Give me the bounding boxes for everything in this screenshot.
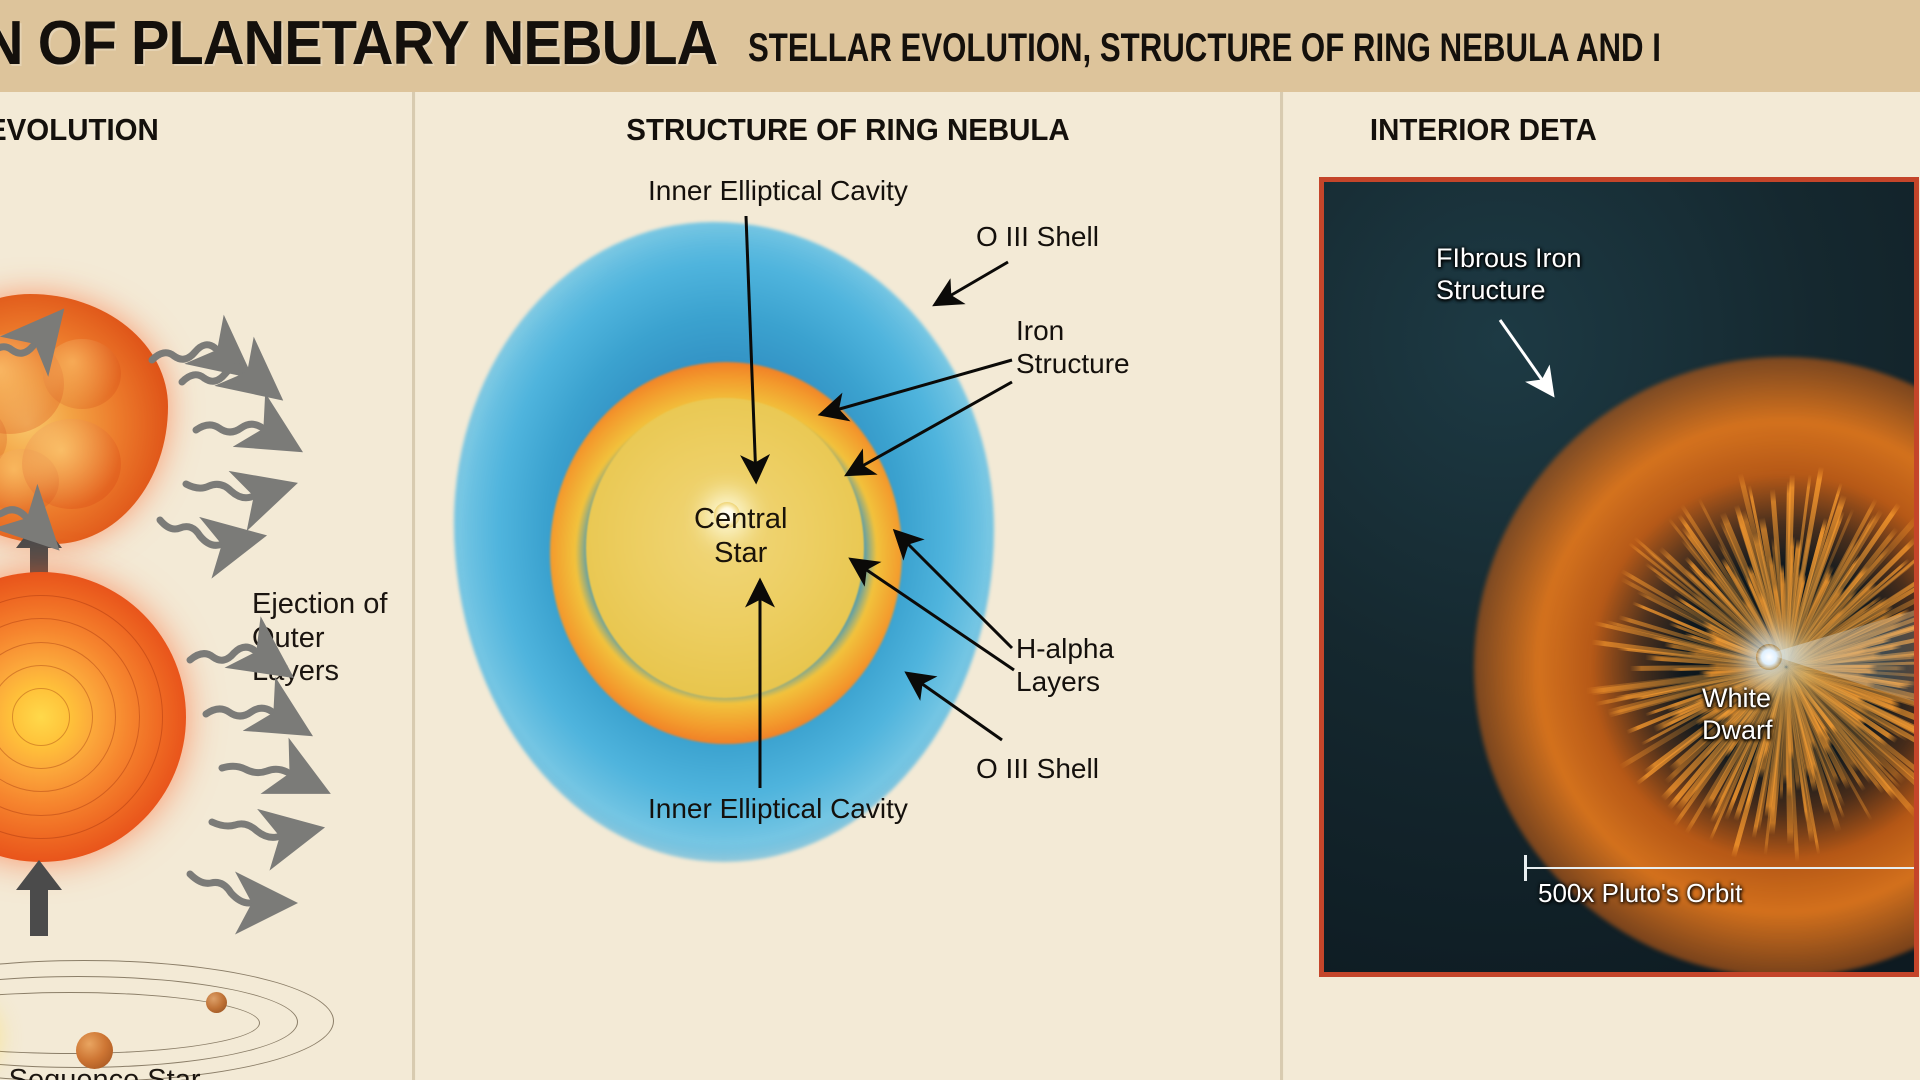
main-sequence-solar-system: [0, 962, 310, 1080]
small-orange-planet-icon: [206, 992, 227, 1013]
evolution-arrow-lower: [30, 886, 48, 936]
label-iron-structure: Iron Structure: [1016, 314, 1130, 380]
label-inner-elliptical-cavity-bottom: Inner Elliptical Cavity: [648, 792, 908, 825]
panel-interior-detail: INTERIOR DETA FIbrous Iron Structure Whi…: [1284, 92, 1920, 1080]
label-central-star: Central Star: [694, 502, 788, 570]
label-h-alpha-layers: H-alpha Layers: [1016, 632, 1114, 698]
panel-divider-1: [412, 92, 415, 1080]
planetary-nebula-stage-icon: [0, 294, 168, 544]
red-giant-icon: [0, 572, 186, 862]
label-inner-elliptical-cavity-top: Inner Elliptical Cavity: [648, 174, 908, 207]
fibrous-iron-leader-line: [1324, 182, 1919, 977]
infographic-poster: ON OF PLANETARY NEBULA STELLAR EVOLUTION…: [0, 0, 1920, 1080]
label-oiii-shell-top: O III Shell: [976, 220, 1099, 253]
poster-header: ON OF PLANETARY NEBULA STELLAR EVOLUTION…: [0, 0, 1920, 92]
panel-heading-interior-detail: INTERIOR DETA: [1370, 112, 1920, 148]
panel-ring-nebula-structure: STRUCTURE OF RING NEBULA Inner Elliptica…: [416, 92, 1280, 1080]
poster-subtitle: STELLAR EVOLUTION, STRUCTURE OF RING NEB…: [748, 26, 1661, 71]
panel-stellar-evolution: LAR EVOLUTION: [0, 92, 412, 1080]
panel-heading-ring-nebula: STRUCTURE OF RING NEBULA: [438, 112, 1259, 148]
panel-divider-2: [1280, 92, 1283, 1080]
panel-heading-stellar-evolution: LAR EVOLUTION: [0, 112, 310, 148]
label-ejection-of-outer-layers: Ejection of Outer Layers: [252, 588, 412, 689]
label-main-sequence-star: in Sequence Star: [0, 1064, 200, 1080]
interior-detail-photo: FIbrous Iron Structure White Dwarf 500x …: [1319, 177, 1919, 977]
poster-title: ON OF PLANETARY NEBULA: [0, 8, 717, 79]
label-oiii-shell-bottom: O III Shell: [976, 752, 1099, 785]
panel-container: LAR EVOLUTION: [0, 92, 1920, 1080]
